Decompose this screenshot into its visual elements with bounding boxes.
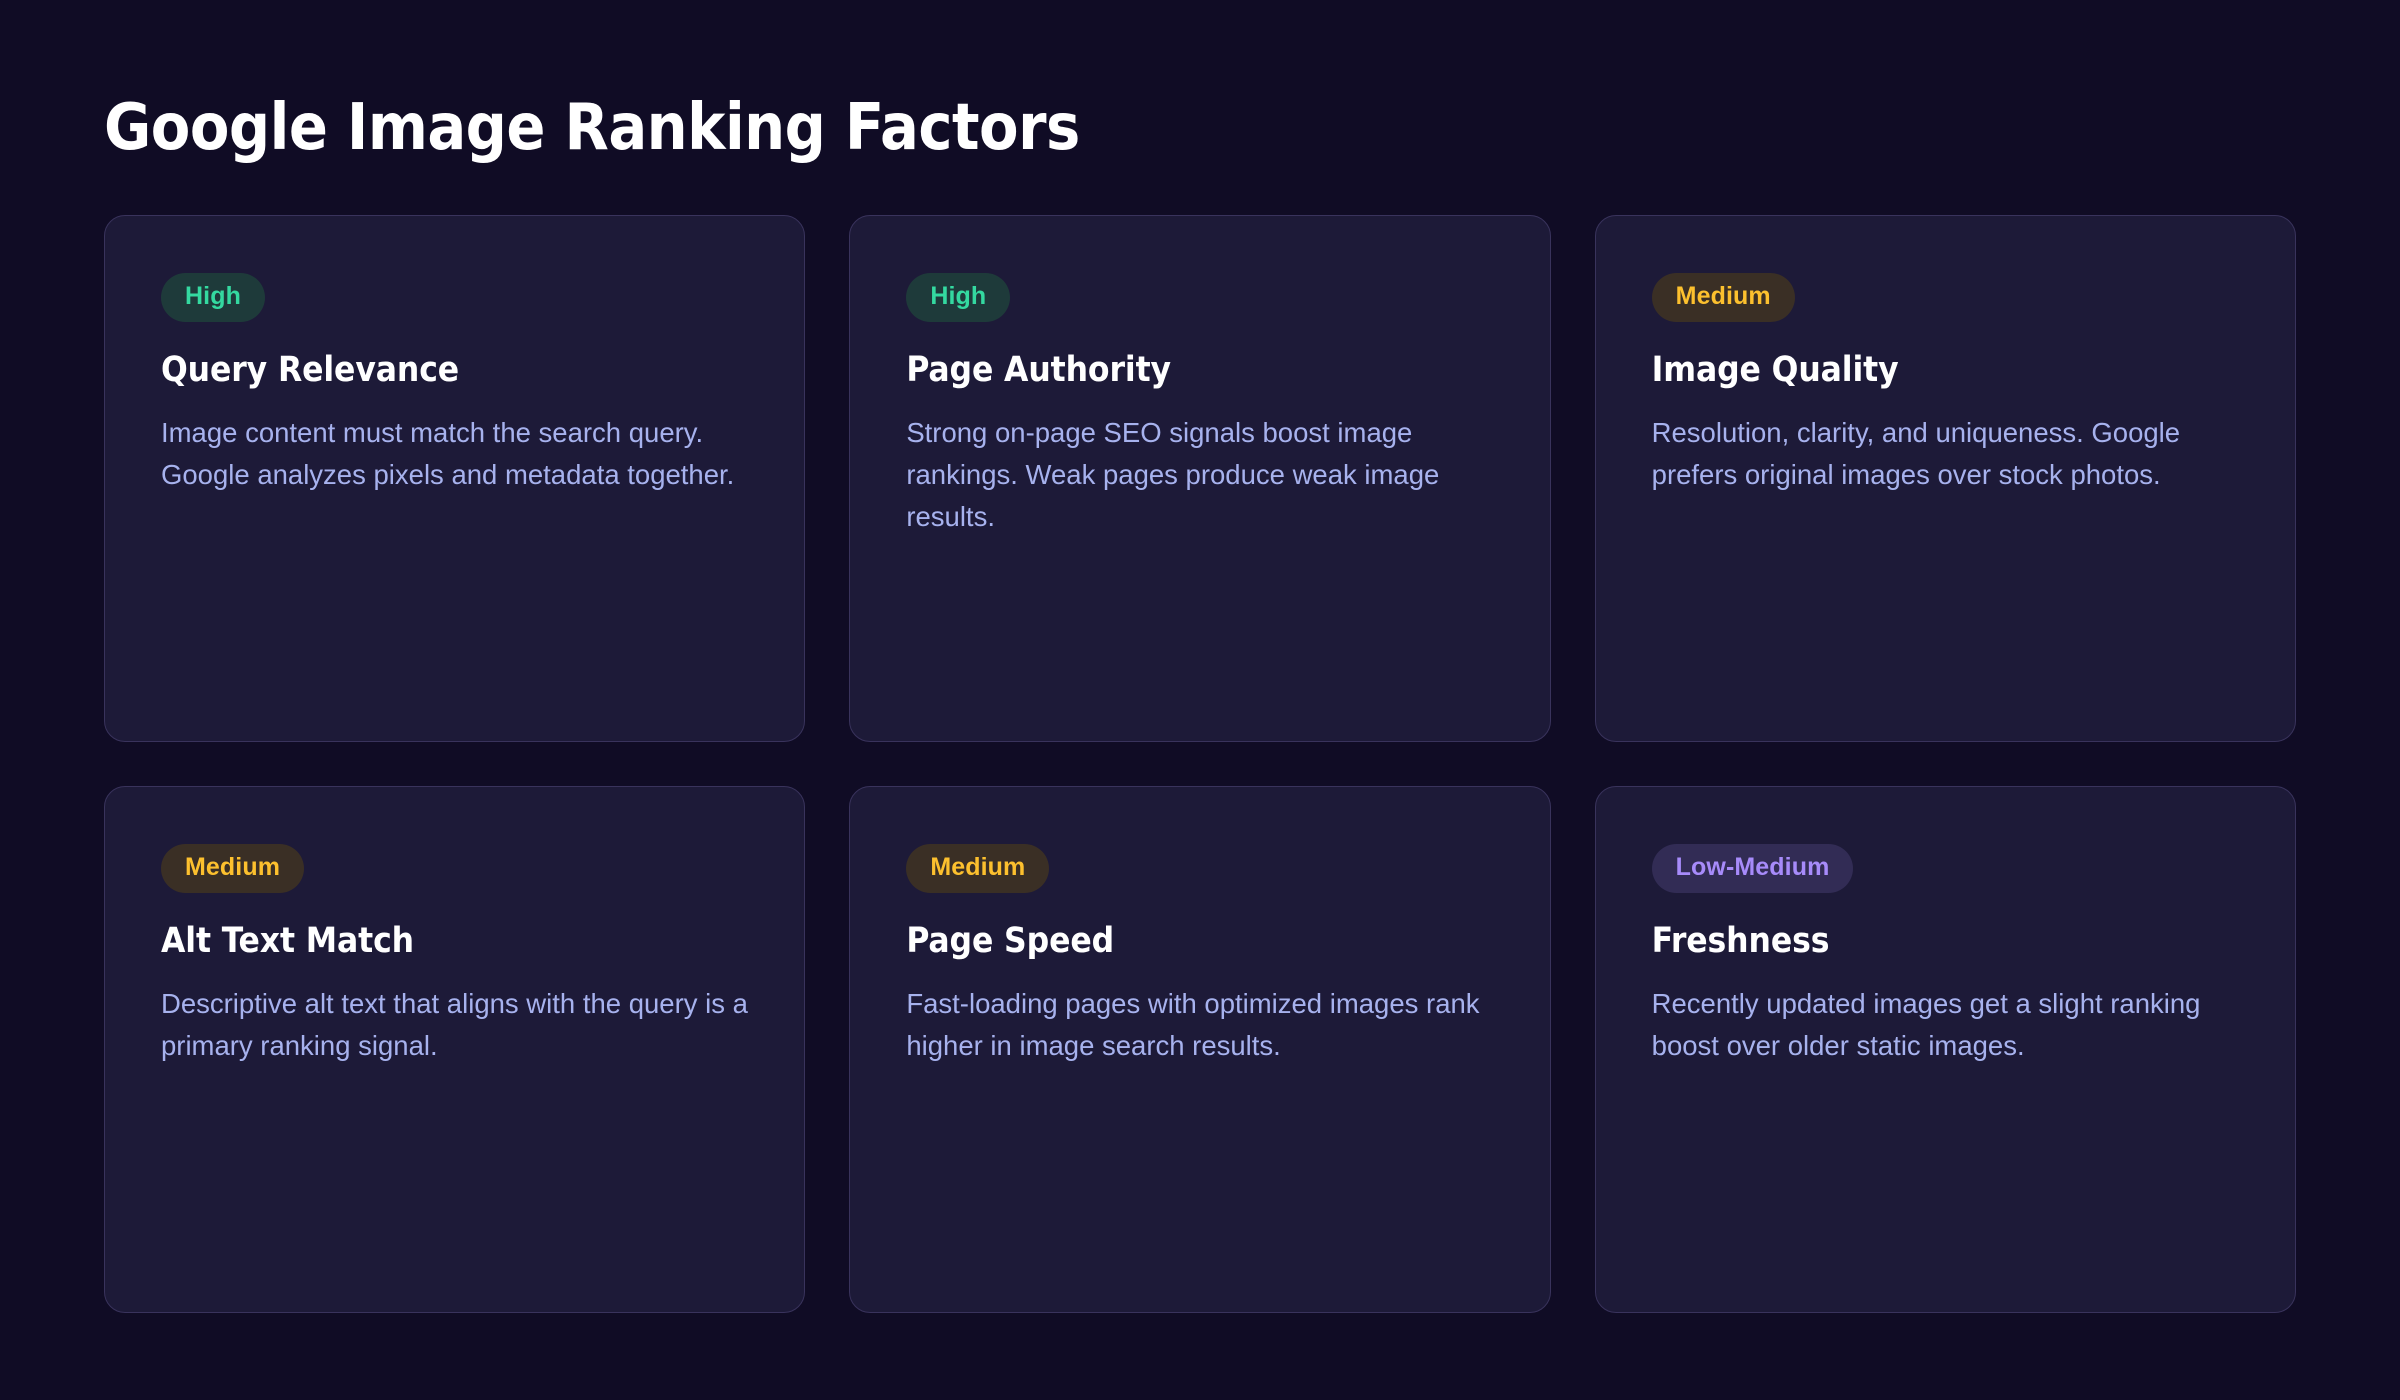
factor-title: Page Authority xyxy=(906,351,1171,390)
impact-badge: High xyxy=(161,273,265,322)
factor-description: Resolution, clarity, and uniqueness. Goo… xyxy=(1652,412,2239,496)
ranking-factor-grid: High Query Relevance Image content must … xyxy=(104,215,2296,1313)
factor-description: Fast-loading pages with optimized images… xyxy=(906,983,1493,1067)
impact-badge: Medium xyxy=(1652,273,1795,322)
impact-badge: Low-Medium xyxy=(1652,844,1854,893)
factor-title: Alt Text Match xyxy=(161,922,414,961)
factor-title: Image Quality xyxy=(1652,351,1899,390)
impact-badge: Medium xyxy=(906,844,1049,893)
ranking-factor-card[interactable]: Medium Image Quality Resolution, clarity… xyxy=(1595,215,2296,742)
factor-description: Image content must match the search quer… xyxy=(161,412,748,496)
impact-badge: Medium xyxy=(161,844,304,893)
factor-description: Strong on-page SEO signals boost image r… xyxy=(906,412,1493,538)
page-root: Google Image Ranking Factors High Query … xyxy=(0,0,2400,1400)
ranking-factor-card[interactable]: High Query Relevance Image content must … xyxy=(104,215,805,742)
ranking-factor-card[interactable]: High Page Authority Strong on-page SEO s… xyxy=(849,215,1550,742)
ranking-factor-card[interactable]: Low-Medium Freshness Recently updated im… xyxy=(1595,786,2296,1313)
ranking-factor-card[interactable]: Medium Page Speed Fast-loading pages wit… xyxy=(849,786,1550,1313)
factor-title: Query Relevance xyxy=(161,351,459,390)
page-title: Google Image Ranking Factors xyxy=(104,0,2296,161)
factor-title: Page Speed xyxy=(906,922,1114,961)
factor-description: Descriptive alt text that aligns with th… xyxy=(161,983,748,1067)
factor-title: Freshness xyxy=(1652,922,1830,961)
ranking-factor-card[interactable]: Medium Alt Text Match Descriptive alt te… xyxy=(104,786,805,1313)
impact-badge: High xyxy=(906,273,1010,322)
factor-description: Recently updated images get a slight ran… xyxy=(1652,983,2239,1067)
